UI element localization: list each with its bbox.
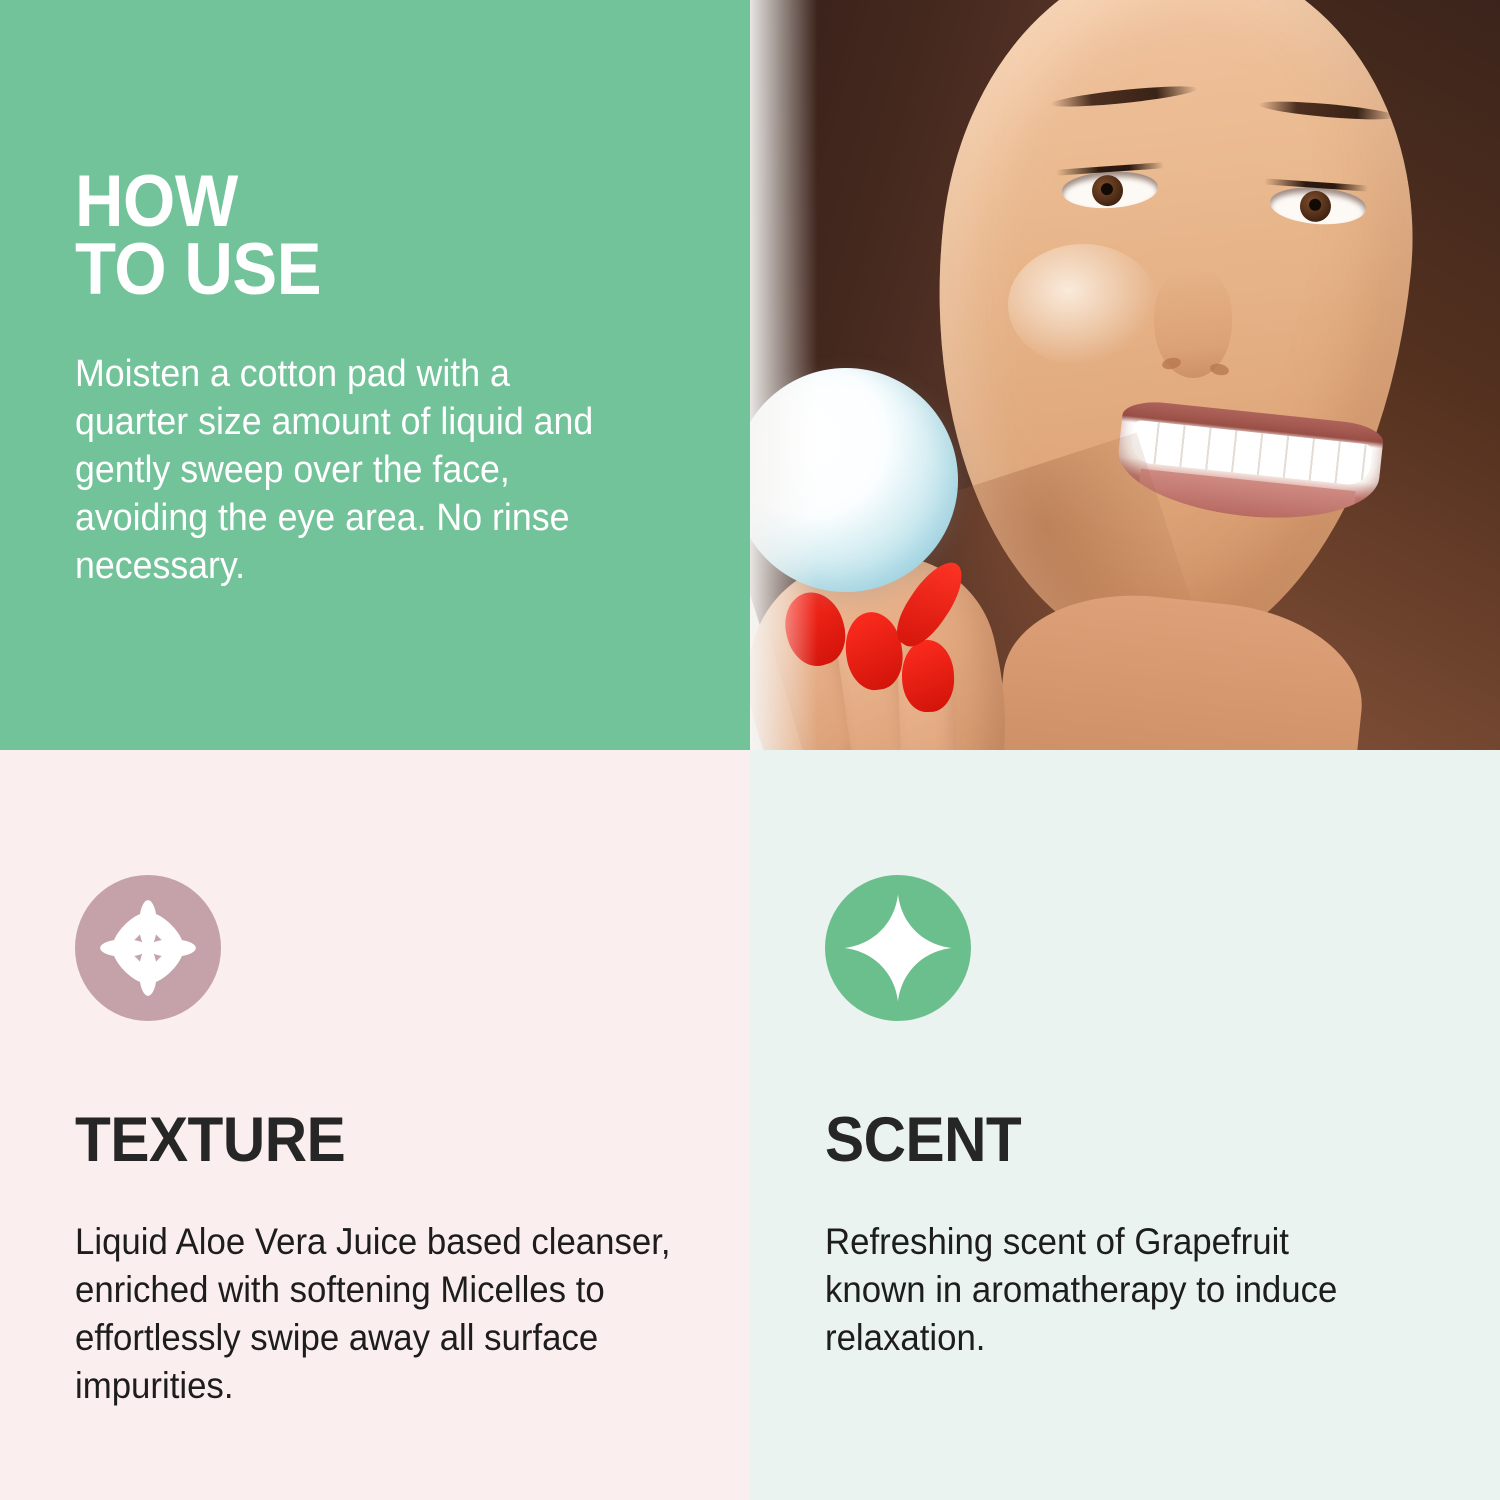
flower-icon — [75, 875, 221, 1021]
scent-panel: SCENT Refreshing scent of Grapefruit kno… — [750, 750, 1500, 1500]
product-photo-panel — [750, 0, 1500, 750]
texture-body: Liquid Aloe Vera Juice based cleanser, e… — [75, 1218, 705, 1410]
how-to-use-content: HOW TO USE Moisten a cotton pad with a q… — [0, 0, 750, 590]
iris-right — [1299, 190, 1332, 223]
texture-panel: TEXTURE Liquid Aloe Vera Juice based cle… — [0, 750, 750, 1500]
texture-content: TEXTURE Liquid Aloe Vera Juice based cle… — [0, 750, 750, 1410]
model-photo — [750, 0, 1500, 750]
how-to-use-title: HOW TO USE — [75, 168, 696, 304]
scent-content: SCENT Refreshing scent of Grapefruit kno… — [750, 750, 1500, 1362]
how-to-use-panel: HOW TO USE Moisten a cotton pad with a q… — [0, 0, 750, 750]
cheek-highlight — [1008, 244, 1158, 366]
scent-title: SCENT — [825, 1109, 1453, 1172]
scent-body: Refreshing scent of Grapefruit known in … — [825, 1218, 1389, 1362]
texture-title: TEXTURE — [75, 1109, 703, 1172]
how-to-use-body: Moisten a cotton pad with a quarter size… — [75, 350, 601, 590]
product-infographic: HOW TO USE Moisten a cotton pad with a q… — [0, 0, 1500, 1500]
iris-left — [1091, 174, 1124, 207]
sparkle-icon — [825, 875, 971, 1021]
